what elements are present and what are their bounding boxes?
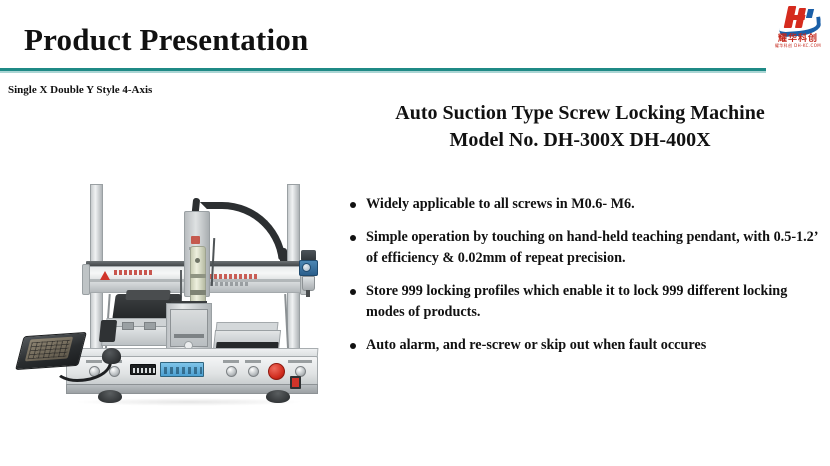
- product-heading: Auto Suction Type Screw Locking Machine …: [340, 100, 820, 154]
- air-regulator-drain: [306, 290, 310, 297]
- air-regulator-bowl: [302, 276, 315, 291]
- warning-triangle-icon: [100, 271, 111, 281]
- bullet-dot-icon: [350, 343, 356, 349]
- page-title: Product Presentation: [24, 22, 308, 58]
- left-work-table-clamp: [99, 320, 117, 342]
- list-item: Auto alarm, and re-screw or skip out whe…: [349, 335, 819, 357]
- z-axis-brand-mark: [191, 236, 200, 244]
- screwdriver-band-upper: [190, 274, 206, 278]
- product-heading-line-2: Model No. DH-300X DH-400X: [340, 127, 820, 154]
- pendant-connector: [102, 348, 121, 364]
- presentation-slide: Product Presentation 耀华科创 耀华科创 DH-KC.COM…: [0, 0, 830, 466]
- bullet-dot-icon: [350, 202, 356, 208]
- parts-tray-top: [125, 290, 170, 300]
- panel-knob-2[interactable]: [109, 366, 120, 377]
- feature-list: Widely applicable to all screws in M0.6-…: [349, 194, 819, 367]
- list-item-text: Store 999 locking profiles which enable …: [366, 283, 787, 321]
- screw-feeder-slot: [174, 334, 204, 338]
- panel-label-3: [223, 360, 239, 363]
- emergency-stop-button[interactable]: [268, 363, 285, 380]
- x-axis-end-cap-left: [82, 264, 90, 295]
- machine-foot-right: [266, 390, 290, 403]
- pressure-gauge-icon: [302, 263, 311, 272]
- digital-counter-display: [130, 364, 156, 375]
- title-divider-soft: [0, 71, 766, 73]
- beam-label-red-left: [114, 270, 154, 275]
- list-item: Widely applicable to all screws in M0.6-…: [349, 194, 819, 216]
- panel-knob-3[interactable]: [226, 366, 237, 377]
- bullet-dot-icon: [350, 289, 356, 295]
- machine-foot-left: [98, 390, 122, 403]
- product-photo: [14, 98, 334, 398]
- product-heading-line-1: Auto Suction Type Screw Locking Machine: [340, 100, 820, 127]
- company-logo: 耀华科创 耀华科创 DH-KC.COM: [766, 0, 830, 56]
- bullet-dot-icon: [350, 235, 356, 241]
- list-item: Store 999 locking profiles which enable …: [349, 281, 819, 324]
- panel-label-5: [288, 360, 312, 363]
- screwdriver-port: [195, 258, 200, 263]
- pendant-keypad[interactable]: [27, 340, 70, 360]
- power-switch[interactable]: [290, 376, 301, 389]
- list-item-text: Auto alarm, and re-screw or skip out whe…: [366, 337, 706, 353]
- list-item: Simple operation by touching on hand-hel…: [349, 227, 819, 270]
- list-item-text: Simple operation by touching on hand-hel…: [366, 229, 817, 267]
- logo-subtext: 耀华科创 DH-KC.COM: [766, 43, 830, 49]
- panel-knob-4[interactable]: [248, 366, 259, 377]
- product-image-caption: Single X Double Y Style 4-Axis: [8, 84, 152, 96]
- logo-mark-icon: [777, 6, 819, 30]
- screwdriver-band-lower: [190, 290, 206, 295]
- left-fixture-a: [122, 322, 134, 330]
- panel-label-4: [245, 360, 261, 363]
- list-item-text: Widely applicable to all screws in M0.6-…: [366, 196, 635, 212]
- left-fixture-b: [144, 322, 156, 330]
- lcd-display: [160, 362, 204, 377]
